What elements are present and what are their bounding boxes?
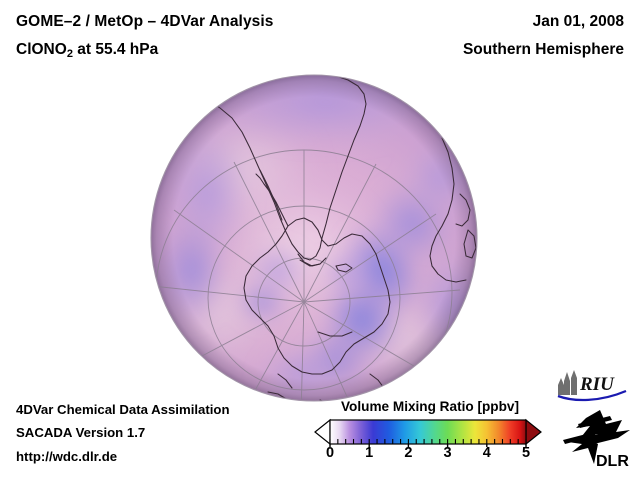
footer-line-1: 4DVar Chemical Data Assimilation — [16, 402, 230, 417]
species-pressure: at 55.4 hPa — [73, 41, 158, 58]
dlr-logo: DLR — [560, 408, 636, 470]
colorbar — [312, 419, 544, 447]
page-title: GOME–2 / MetOp – 4DVar Analysis — [16, 13, 274, 31]
colorbar-tick-3: 3 — [444, 445, 452, 461]
riu-wordmark: RIU — [579, 374, 615, 395]
colorbar-tick-1: 1 — [365, 445, 373, 461]
colorbar-tick-5: 5 — [522, 445, 530, 461]
colorbar-tick-2: 2 — [404, 445, 412, 461]
date-label: Jan 01, 2008 — [533, 13, 624, 31]
riu-spires-icon — [558, 370, 577, 395]
species-subtitle: ClONO2 at 55.4 hPa — [16, 41, 158, 60]
colorbar-title: Volume Mixing Ratio [ppbv] — [310, 399, 550, 414]
colorbar-gradient — [330, 420, 526, 444]
dlr-wordmark: DLR — [596, 453, 629, 470]
colorbar-tick-4: 4 — [483, 445, 491, 461]
colorbar-extend-max — [526, 420, 541, 444]
colorbar-extend-min — [315, 420, 330, 444]
globe-data-field — [150, 56, 486, 454]
region-label: Southern Hemisphere — [463, 41, 624, 59]
colorbar-tick-0: 0 — [326, 445, 334, 461]
riu-logo: RIU — [556, 369, 636, 403]
species-name: ClONO — [16, 41, 67, 58]
globe-map — [150, 74, 478, 402]
footer-line-2: SACADA Version 1.7 — [16, 425, 145, 440]
footer-url: http://wdc.dlr.de — [16, 449, 117, 464]
colorbar-tick-labels: 012345 — [312, 445, 544, 467]
